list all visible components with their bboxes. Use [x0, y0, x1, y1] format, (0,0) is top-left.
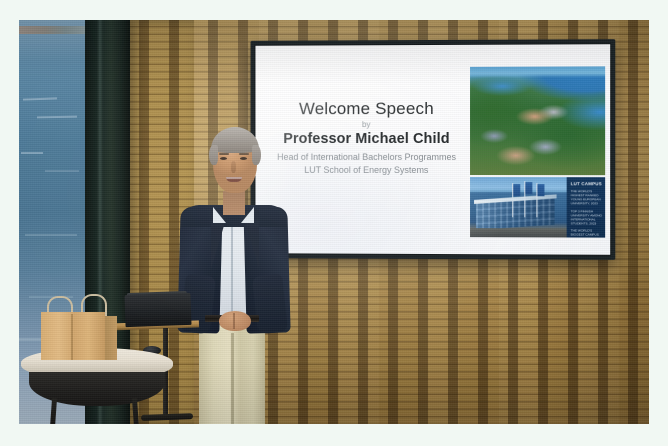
- glass-building-photo: LUT CAMPUS THE WORLD'S HIGHEST RANKED YO…: [470, 177, 605, 238]
- presenter-neck: [223, 191, 245, 215]
- presenter-left-eyebrow: [219, 153, 229, 155]
- jacket-right-sleeve: [252, 274, 288, 335]
- laptop-body[interactable]: [124, 293, 191, 327]
- glass-reflection: [45, 170, 79, 172]
- building-forecourt: [470, 228, 567, 237]
- table-leg: [50, 398, 57, 424]
- trouser-seam: [231, 333, 234, 424]
- info-block-paragraph: TOP 3 FINNISH UNIVERSITY AMONG INTERNATI…: [571, 209, 602, 225]
- bag-front-panel: [41, 312, 105, 360]
- paper-bag[interactable]: [41, 294, 117, 360]
- bag-side-panel: [105, 316, 117, 360]
- presenter-clasped-hands: [219, 311, 251, 331]
- image-frame: Welcome Speech by Professor Michael Chil…: [0, 0, 668, 446]
- flag: [537, 184, 544, 196]
- presenter-left-eye: [220, 157, 227, 160]
- flag: [525, 182, 532, 194]
- city-skyline: [19, 26, 85, 34]
- glass-reflection: [23, 97, 57, 100]
- building-photo-content: [470, 177, 567, 237]
- presenter-mouth: [226, 177, 242, 182]
- table-base: [29, 372, 165, 406]
- presenter-right-eye: [240, 157, 247, 160]
- photo-grain: [470, 66, 605, 175]
- glass-reflection: [37, 116, 77, 119]
- hand-separation: [233, 313, 235, 329]
- shirt-placket: [231, 215, 233, 315]
- wall-mounted-presentation-screen[interactable]: Welcome Speech by Professor Michael Chil…: [251, 39, 616, 260]
- presenter-right-eyebrow: [239, 153, 249, 155]
- glass-reflection: [21, 152, 43, 154]
- presentation-photograph: Welcome Speech by Professor Michael Chil…: [19, 20, 649, 424]
- aerial-campus-photo: [470, 66, 605, 175]
- presenter-nose: [231, 161, 236, 173]
- info-block-paragraph: THE WORLD'S BIGGEST CAMPUS SUSTAINABILIT…: [571, 228, 602, 237]
- presenter-hair-left: [209, 145, 218, 165]
- flag: [513, 184, 520, 196]
- slide-info-block: LUT CAMPUS THE WORLD'S HIGHEST RANKED YO…: [567, 177, 605, 237]
- info-block-heading: LUT CAMPUS: [571, 181, 602, 186]
- glass-reflection: [25, 234, 77, 236]
- bag-crease: [71, 314, 73, 360]
- info-block-paragraph: THE WORLD'S HIGHEST RANKED YOUNG EUROPEA…: [571, 189, 602, 205]
- presenter-hair-right: [252, 145, 261, 165]
- presentation-slide: Welcome Speech by Professor Michael Chil…: [255, 44, 610, 255]
